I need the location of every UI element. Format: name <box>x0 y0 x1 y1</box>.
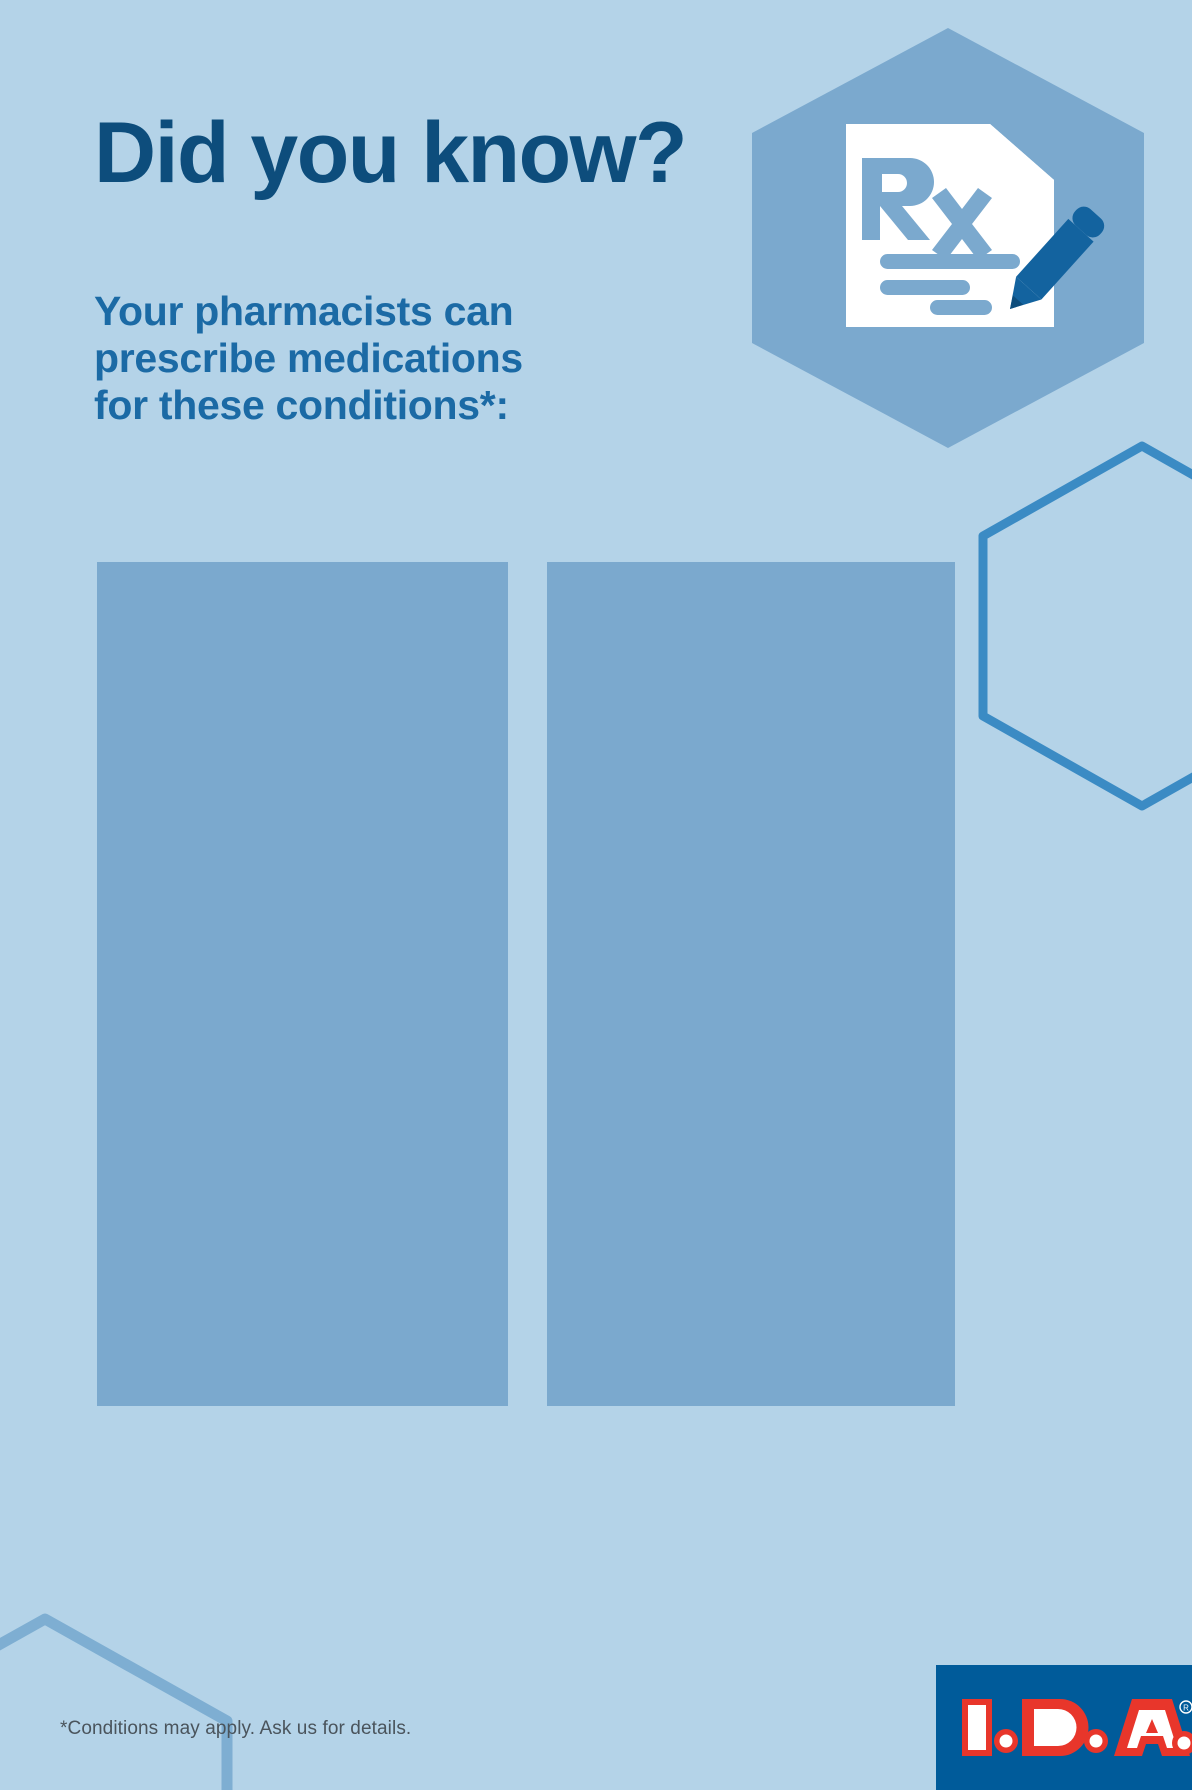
pencil-icon <box>1000 195 1110 330</box>
svg-text:R: R <box>1183 1704 1189 1713</box>
conditions-panel-right <box>547 562 955 1406</box>
subtitle-line-1: Your pharmacists can <box>94 288 523 335</box>
page-subtitle: Your pharmacists can prescribe medicatio… <box>94 288 523 429</box>
subtitle-line-3: for these conditions*: <box>94 382 523 429</box>
conditions-panel-left <box>97 562 508 1406</box>
ida-logo-mark: R <box>936 1665 1192 1790</box>
hexagon-outline-right-icon <box>972 440 1192 812</box>
poster-canvas: Did you know? Your pharmacists can presc… <box>0 0 1192 1790</box>
footnote-text: *Conditions may apply. Ask us for detail… <box>60 1718 411 1740</box>
page-title: Did you know? <box>94 110 686 196</box>
ida-logo: R <box>936 1665 1192 1790</box>
hexagon-outline-bottom-left-icon <box>0 1612 240 1790</box>
subtitle-line-2: prescribe medications <box>94 335 523 382</box>
